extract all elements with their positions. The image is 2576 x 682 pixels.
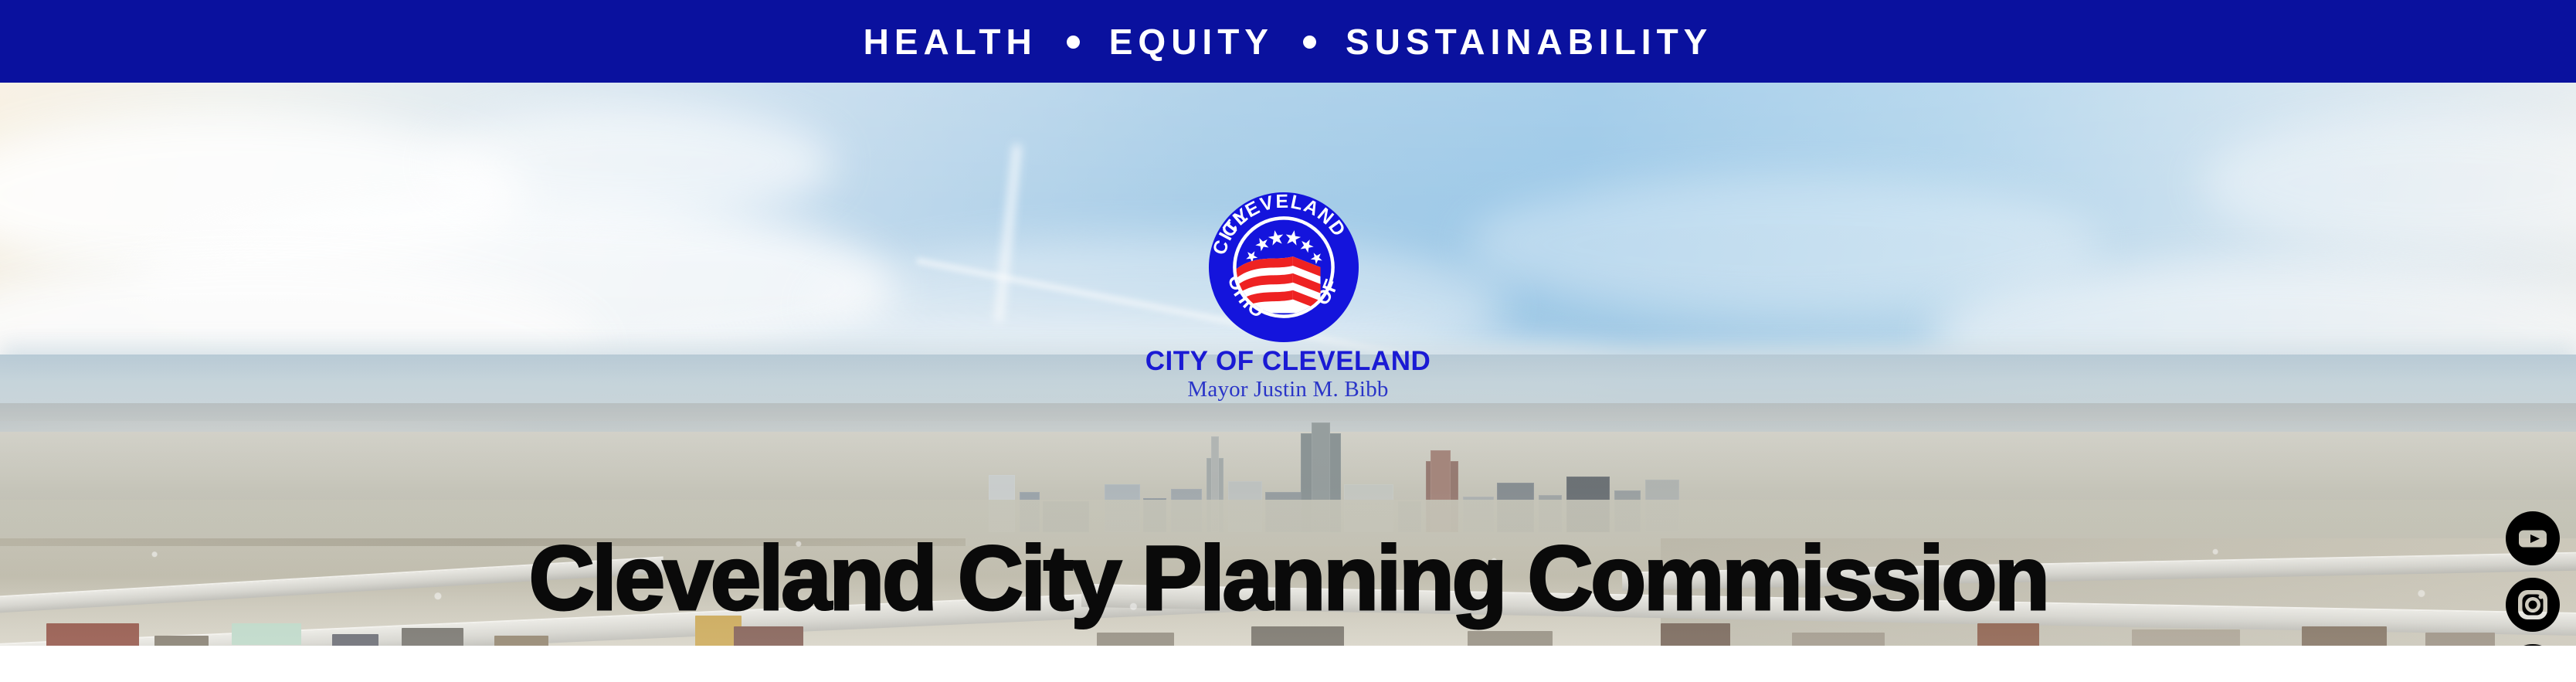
tagline-dot-2 — [1303, 36, 1316, 49]
youtube-icon[interactable] — [2505, 511, 2561, 566]
bottom-white-strip — [0, 646, 2576, 682]
tagline-word-equity: EQUITY — [1109, 22, 1274, 62]
mayor-name-label: Mayor Justin M. Bibb — [0, 377, 2576, 402]
tagline-word-health: HEALTH — [864, 22, 1037, 62]
tagline-word-sustainability: SUSTAINABILITY — [1346, 22, 1712, 62]
city-seal: CLEVELAND CITY OHIO OF — [1207, 191, 1360, 344]
page-title: Cleveland City Planning Commission — [0, 533, 2576, 624]
city-name-label: CITY OF CLEVELAND — [0, 346, 2576, 377]
page-root: HEALTHEQUITYSUSTAINABILITY — [0, 0, 2576, 682]
city-of-cleveland-seal-icon: CLEVELAND CITY OHIO OF — [1207, 191, 1360, 344]
tagline-text: HEALTHEQUITYSUSTAINABILITY — [864, 21, 1713, 63]
instagram-icon[interactable] — [2505, 577, 2561, 633]
tagline-dot-1 — [1067, 36, 1080, 49]
hero-photo: CLEVELAND CITY OHIO OF — [0, 83, 2576, 646]
social-links — [2505, 511, 2567, 646]
tagline-banner: HEALTHEQUITYSUSTAINABILITY — [0, 0, 2576, 83]
